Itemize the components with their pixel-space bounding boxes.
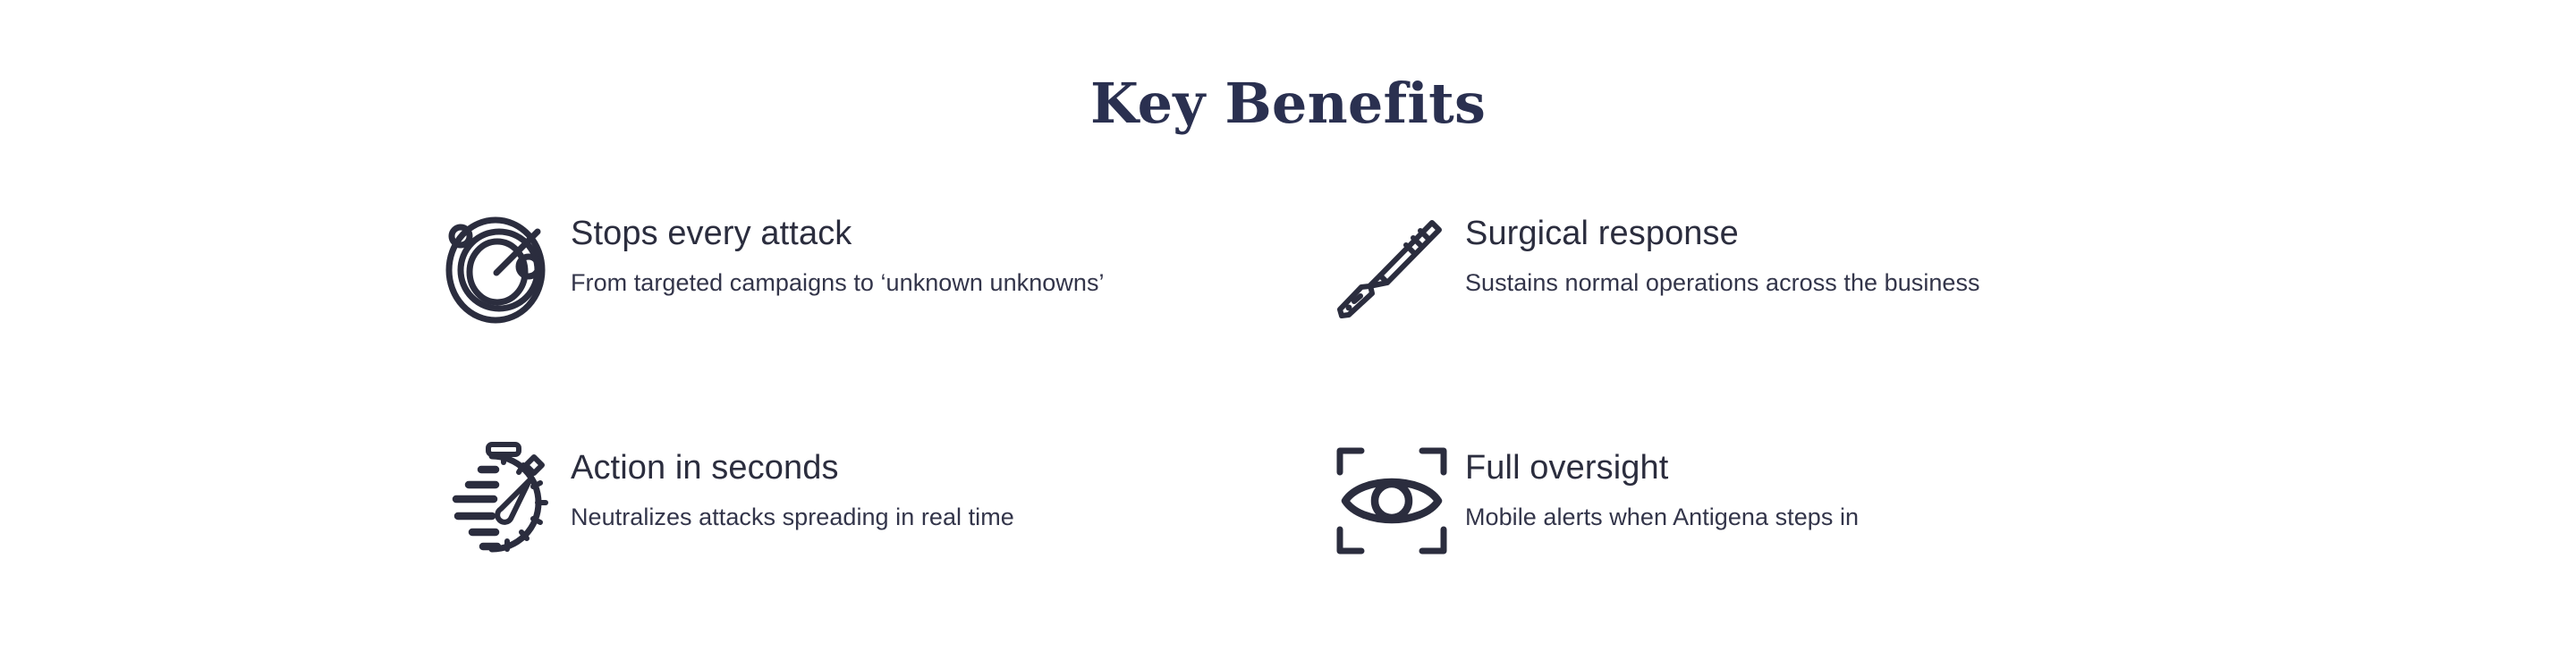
benefit-item-action-in-seconds: Action in seconds Neutralizes attacks sp… xyxy=(436,436,1331,669)
benefit-description: Mobile alerts when Antigena steps in xyxy=(1465,500,2020,534)
benefits-grid: Stops every attack From targeted campaig… xyxy=(436,204,2243,669)
benefit-text-block: Action in seconds Neutralizes attacks sp… xyxy=(571,436,1331,534)
benefit-description: Sustains normal operations across the bu… xyxy=(1465,266,2020,300)
benefit-heading: Full oversight xyxy=(1465,449,2172,487)
benefit-heading: Stops every attack xyxy=(571,215,1277,253)
radar-orbit-icon xyxy=(436,204,571,338)
page-title: Key Benefits xyxy=(0,72,2576,135)
benefit-item-stops-every-attack: Stops every attack From targeted campaig… xyxy=(436,204,1331,436)
benefit-heading: Surgical response xyxy=(1465,215,2172,253)
benefit-heading: Action in seconds xyxy=(571,449,1277,487)
benefit-description: Neutralizes attacks spreading in real ti… xyxy=(571,500,1125,534)
key-benefits-section: Key Benefits xyxy=(0,0,2576,664)
benefit-text-block: Stops every attack From targeted campaig… xyxy=(571,204,1331,300)
benefit-item-full-oversight: Full oversight Mobile alerts when Antige… xyxy=(1331,436,2225,669)
stopwatch-speed-icon xyxy=(436,436,571,571)
scalpel-icon xyxy=(1331,204,1465,338)
benefit-text-block: Full oversight Mobile alerts when Antige… xyxy=(1465,436,2225,534)
benefit-item-surgical-response: Surgical response Sustains normal operat… xyxy=(1331,204,2225,436)
benefit-text-block: Surgical response Sustains normal operat… xyxy=(1465,204,2225,300)
eye-viewfinder-icon xyxy=(1331,436,1465,571)
benefit-description: From targeted campaigns to ‘unknown unkn… xyxy=(571,266,1125,300)
